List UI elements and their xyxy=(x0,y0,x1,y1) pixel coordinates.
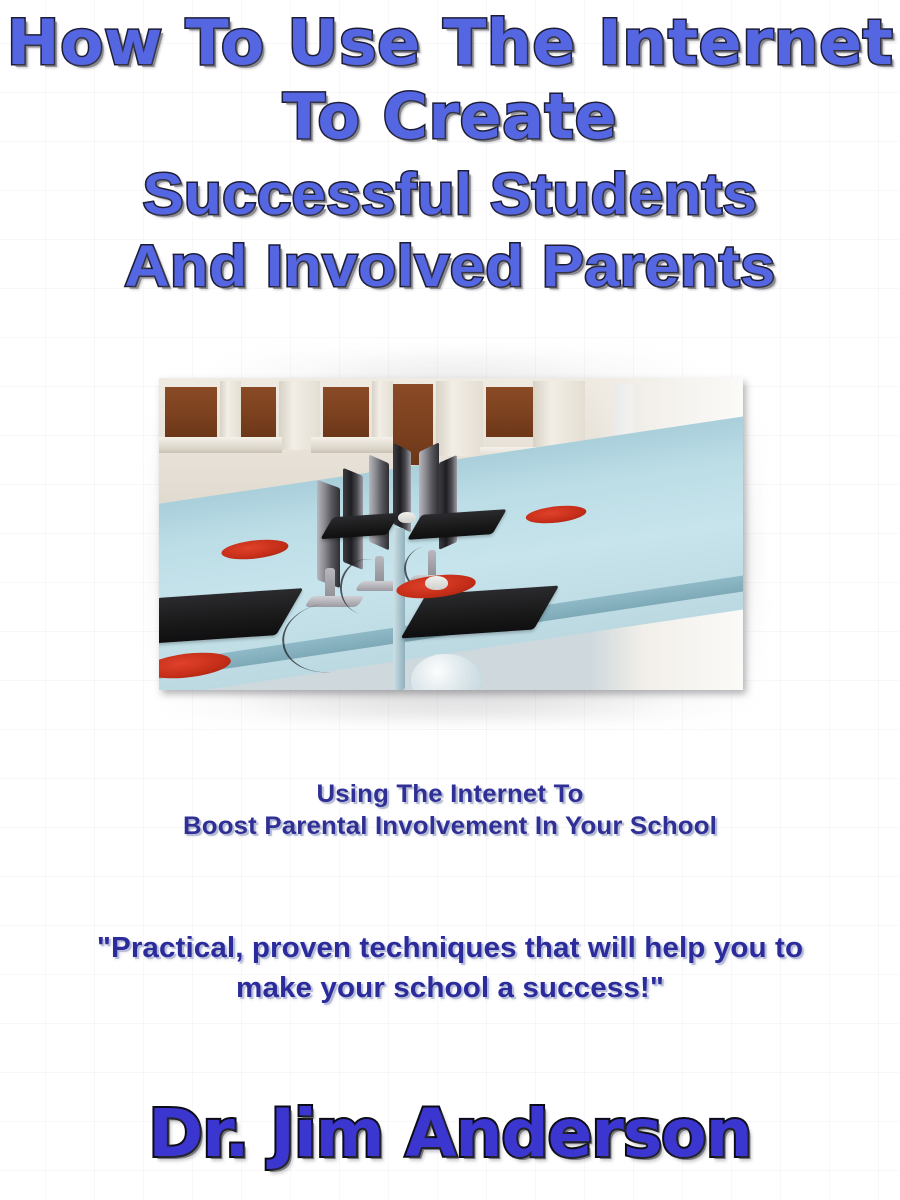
cover-photo-scene xyxy=(159,378,743,690)
photo-pilaster-4 xyxy=(436,381,483,456)
photo-mouse-2 xyxy=(398,512,416,523)
photo-mouse-1 xyxy=(425,576,448,590)
title-line-3: Successful Students xyxy=(0,162,900,228)
photo-monitor-3 xyxy=(369,455,389,551)
photo-glass-globe xyxy=(410,653,482,690)
book-author: Dr. Jim Anderson xyxy=(0,1094,900,1174)
photo-monitor-stand-1 xyxy=(325,568,334,599)
quote-line-1: "Practical, proven techniques that will … xyxy=(0,928,900,968)
photo-door-5 xyxy=(486,387,533,437)
photo-cable-pole xyxy=(393,528,406,690)
subtitle-line-1: Using The Internet To xyxy=(0,778,900,810)
photo-cornice-mid xyxy=(311,437,393,453)
title-line-2: To Create xyxy=(0,82,900,152)
photo-door-3 xyxy=(323,387,370,437)
photo-door-2 xyxy=(241,387,276,437)
title-line-4: And Involved Parents xyxy=(0,234,900,300)
book-tagline-quote: "Practical, proven techniques that will … xyxy=(0,928,900,1008)
cover-photo xyxy=(159,378,743,690)
quote-line-2: make your school a success!" xyxy=(0,968,900,1008)
subtitle-line-2: Boost Parental Involvement In Your Schoo… xyxy=(0,810,900,842)
photo-cornice-left xyxy=(159,437,282,453)
author-name: Dr. Jim Anderson xyxy=(148,1094,751,1174)
book-title: How To Use The Internet To Create Succes… xyxy=(0,8,900,300)
photo-door-1 xyxy=(165,387,218,437)
book-subtitle: Using The Internet To Boost Parental Inv… xyxy=(0,778,900,842)
title-line-1: How To Use The Internet xyxy=(0,8,900,78)
book-cover: How To Use The Internet To Create Succes… xyxy=(0,0,900,1200)
